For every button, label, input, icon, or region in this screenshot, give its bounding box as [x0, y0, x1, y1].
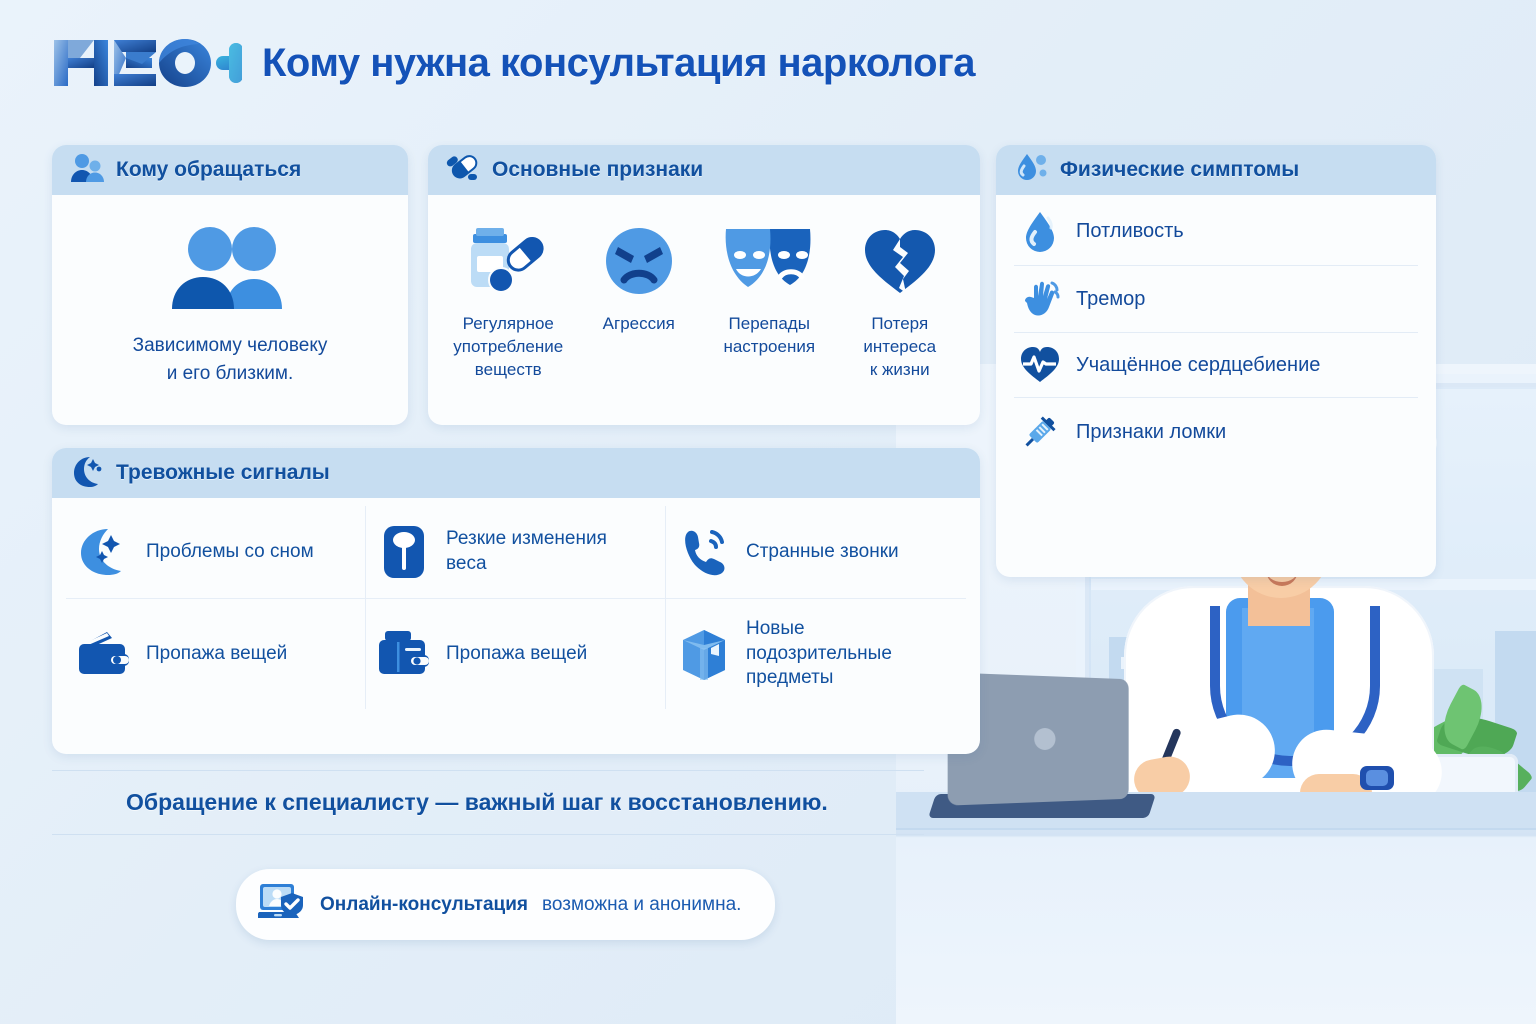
card-title: Основные признаки: [492, 158, 703, 182]
page-header: Кому нужна консультация нарколога: [52, 34, 975, 92]
label-line: настроения: [723, 336, 815, 359]
sign-item: Потеря интереса к жизни: [838, 219, 963, 382]
label-line: Потеря: [863, 313, 936, 336]
card-body: Проблемы со сном Резкие изменения веса: [52, 498, 980, 723]
label-line: веществ: [453, 359, 563, 382]
laptop-logo: [1034, 728, 1055, 750]
people-large-icon: [166, 225, 294, 314]
card-body-text: Зависимому человеку и его близким.: [133, 332, 328, 387]
broken-heart-icon: [861, 219, 939, 303]
list-item: Признаки ломки: [1014, 398, 1418, 466]
ringing-phone-icon: [676, 526, 732, 578]
moon-sparkle-icon: [70, 455, 104, 492]
angry-face-icon: [602, 219, 676, 303]
sign-item: Регулярное употребление веществ: [446, 219, 571, 382]
water-drop-icon: [1014, 152, 1048, 189]
list-item: Пропажа вещей: [66, 599, 366, 709]
weight-scale-icon: [376, 524, 432, 580]
list-item-label: Учащённое сердцебиение: [1076, 352, 1320, 378]
people-icon: [70, 153, 104, 188]
label-text: Учащённое сердцебиение: [1076, 354, 1320, 376]
divider: [52, 834, 924, 835]
pill-bold-text: Онлайн-консультация: [320, 894, 528, 916]
sign-label: Регулярное употребление веществ: [453, 313, 563, 382]
footer-tagline-block: Обращение к специалисту — важный шаг к в…: [52, 770, 924, 835]
briefcase-wallet-icon: [376, 629, 432, 679]
theater-masks-icon: [722, 219, 816, 303]
body-line: Зависимому человеку: [133, 332, 328, 360]
card-who-to-contact: Кому обращаться Зависимому человеку и ег…: [52, 145, 408, 425]
sign-item: Агрессия: [577, 219, 702, 382]
moon-sparkle-icon: [76, 526, 132, 578]
water-drop-icon: [1018, 210, 1062, 252]
card-header: Основные признаки: [428, 145, 980, 195]
label-line: употребление: [453, 336, 563, 359]
list-item: Проблемы со сном: [66, 506, 366, 599]
card-body: Зависимому человеку и его близким.: [52, 195, 408, 405]
label-line: Регулярное: [453, 313, 563, 336]
list-item-label: Признаки ломки: [1076, 419, 1226, 445]
list-item-label: Проблемы со сном: [146, 540, 314, 565]
card-header: Тревожные сигналы: [52, 448, 980, 498]
card-main-signs: Основные признаки: [428, 145, 980, 425]
sign-label: Перепады настроения: [723, 313, 815, 359]
list-item-label: Тремор: [1076, 286, 1145, 312]
desk: [896, 794, 1536, 1024]
pill-bottle-icon: [465, 219, 551, 303]
heartbeat-icon: [1018, 346, 1062, 384]
sign-label: Потеря интереса к жизни: [863, 313, 936, 382]
card-header: Физические симптомы: [996, 145, 1436, 195]
card-title: Физические симптомы: [1060, 158, 1299, 182]
page-title: Кому нужна консультация нарколога: [262, 41, 975, 86]
footer-tagline: Обращение к специалисту — важный шаг к в…: [52, 771, 924, 834]
trembling-hand-icon: [1018, 279, 1062, 319]
list-item-label: Пропажа вещей: [146, 642, 287, 667]
pills-icon: [446, 152, 480, 189]
list-item-label: Новые подозрительные предметы: [746, 617, 906, 691]
card-header: Кому обращаться: [52, 145, 408, 195]
online-consultation-pill[interactable]: Онлайн-консультация возможна и анонимна.: [236, 869, 775, 940]
signs-grid: Регулярное употребление веществ: [446, 211, 962, 382]
infographic-canvas: Кому нужна консультация нарколога Кому о…: [0, 0, 1536, 1024]
card-body: Регулярное употребление веществ: [428, 195, 980, 400]
label-line: интереса: [863, 336, 936, 359]
card-alarm-signals: Тревожные сигналы Проблемы со сном: [52, 448, 980, 754]
wallet-icon: [76, 630, 132, 678]
online-consultation-icon: [258, 881, 306, 928]
sign-item: Перепады настроения: [707, 219, 832, 382]
pill-normal-text: возможна и анонимна.: [542, 894, 741, 916]
list-item-label: Резкие изменения веса: [446, 527, 616, 576]
list-item-label: Странные звонки: [746, 540, 899, 565]
list-item: Новые подозрительные предметы: [666, 599, 966, 709]
card-physical-symptoms: Физические симптомы Потливость Тремор: [996, 145, 1436, 577]
body-line: и его близким.: [133, 360, 328, 388]
syringe-icon: [1018, 411, 1062, 453]
suspicious-package-icon: [676, 626, 732, 682]
list-item: Потливость: [1014, 197, 1418, 266]
sign-label: Агрессия: [603, 313, 675, 336]
list-item: Учащённое сердцебиение: [1014, 333, 1418, 398]
list-item-label: Потливость: [1076, 218, 1184, 244]
label-line: к жизни: [863, 359, 936, 382]
list-item-label: Пропажа вещей: [446, 642, 587, 667]
list-item: Резкие изменения веса: [366, 506, 666, 599]
label-line: Перепады: [723, 313, 815, 336]
list-item: Тремор: [1014, 266, 1418, 333]
list-item: Странные звонки: [666, 506, 966, 599]
card-title: Тревожные сигналы: [116, 461, 330, 485]
card-title: Кому обращаться: [116, 158, 301, 182]
alarm-grid: Проблемы со сном Резкие изменения веса: [66, 506, 966, 709]
wristwatch-face: [1366, 770, 1388, 786]
list-item: Пропажа вещей: [366, 599, 666, 709]
card-body: Потливость Тремор: [996, 195, 1436, 484]
brand-logo: [52, 34, 242, 92]
label-line: Агрессия: [603, 313, 675, 336]
